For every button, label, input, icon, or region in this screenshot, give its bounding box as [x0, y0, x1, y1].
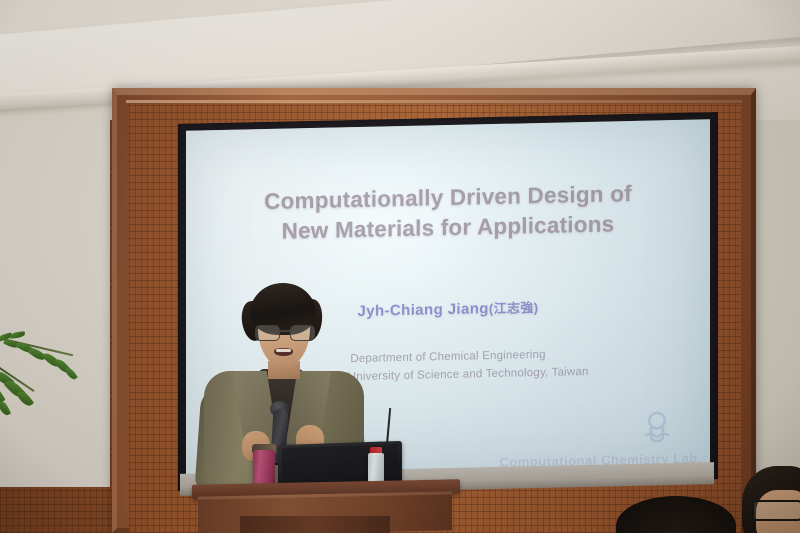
plant-leaf [0, 399, 11, 417]
frame-bead-highlight [126, 100, 742, 103]
plant-leaf [16, 389, 34, 409]
plant-leaf [64, 366, 78, 381]
audience-glasses-icon [752, 500, 800, 521]
speaker-mouth [274, 348, 293, 356]
glasses-lens-right [290, 325, 315, 341]
glasses-lens-left [255, 325, 280, 341]
podium-column [240, 516, 390, 533]
indoor-plant [0, 318, 90, 438]
glasses-bridge [278, 330, 290, 332]
presentation-photo-scene: Computationally Driven Design of New Mat… [0, 0, 800, 533]
plant-leaf [10, 331, 26, 339]
speaker-glasses-icon [254, 325, 314, 339]
